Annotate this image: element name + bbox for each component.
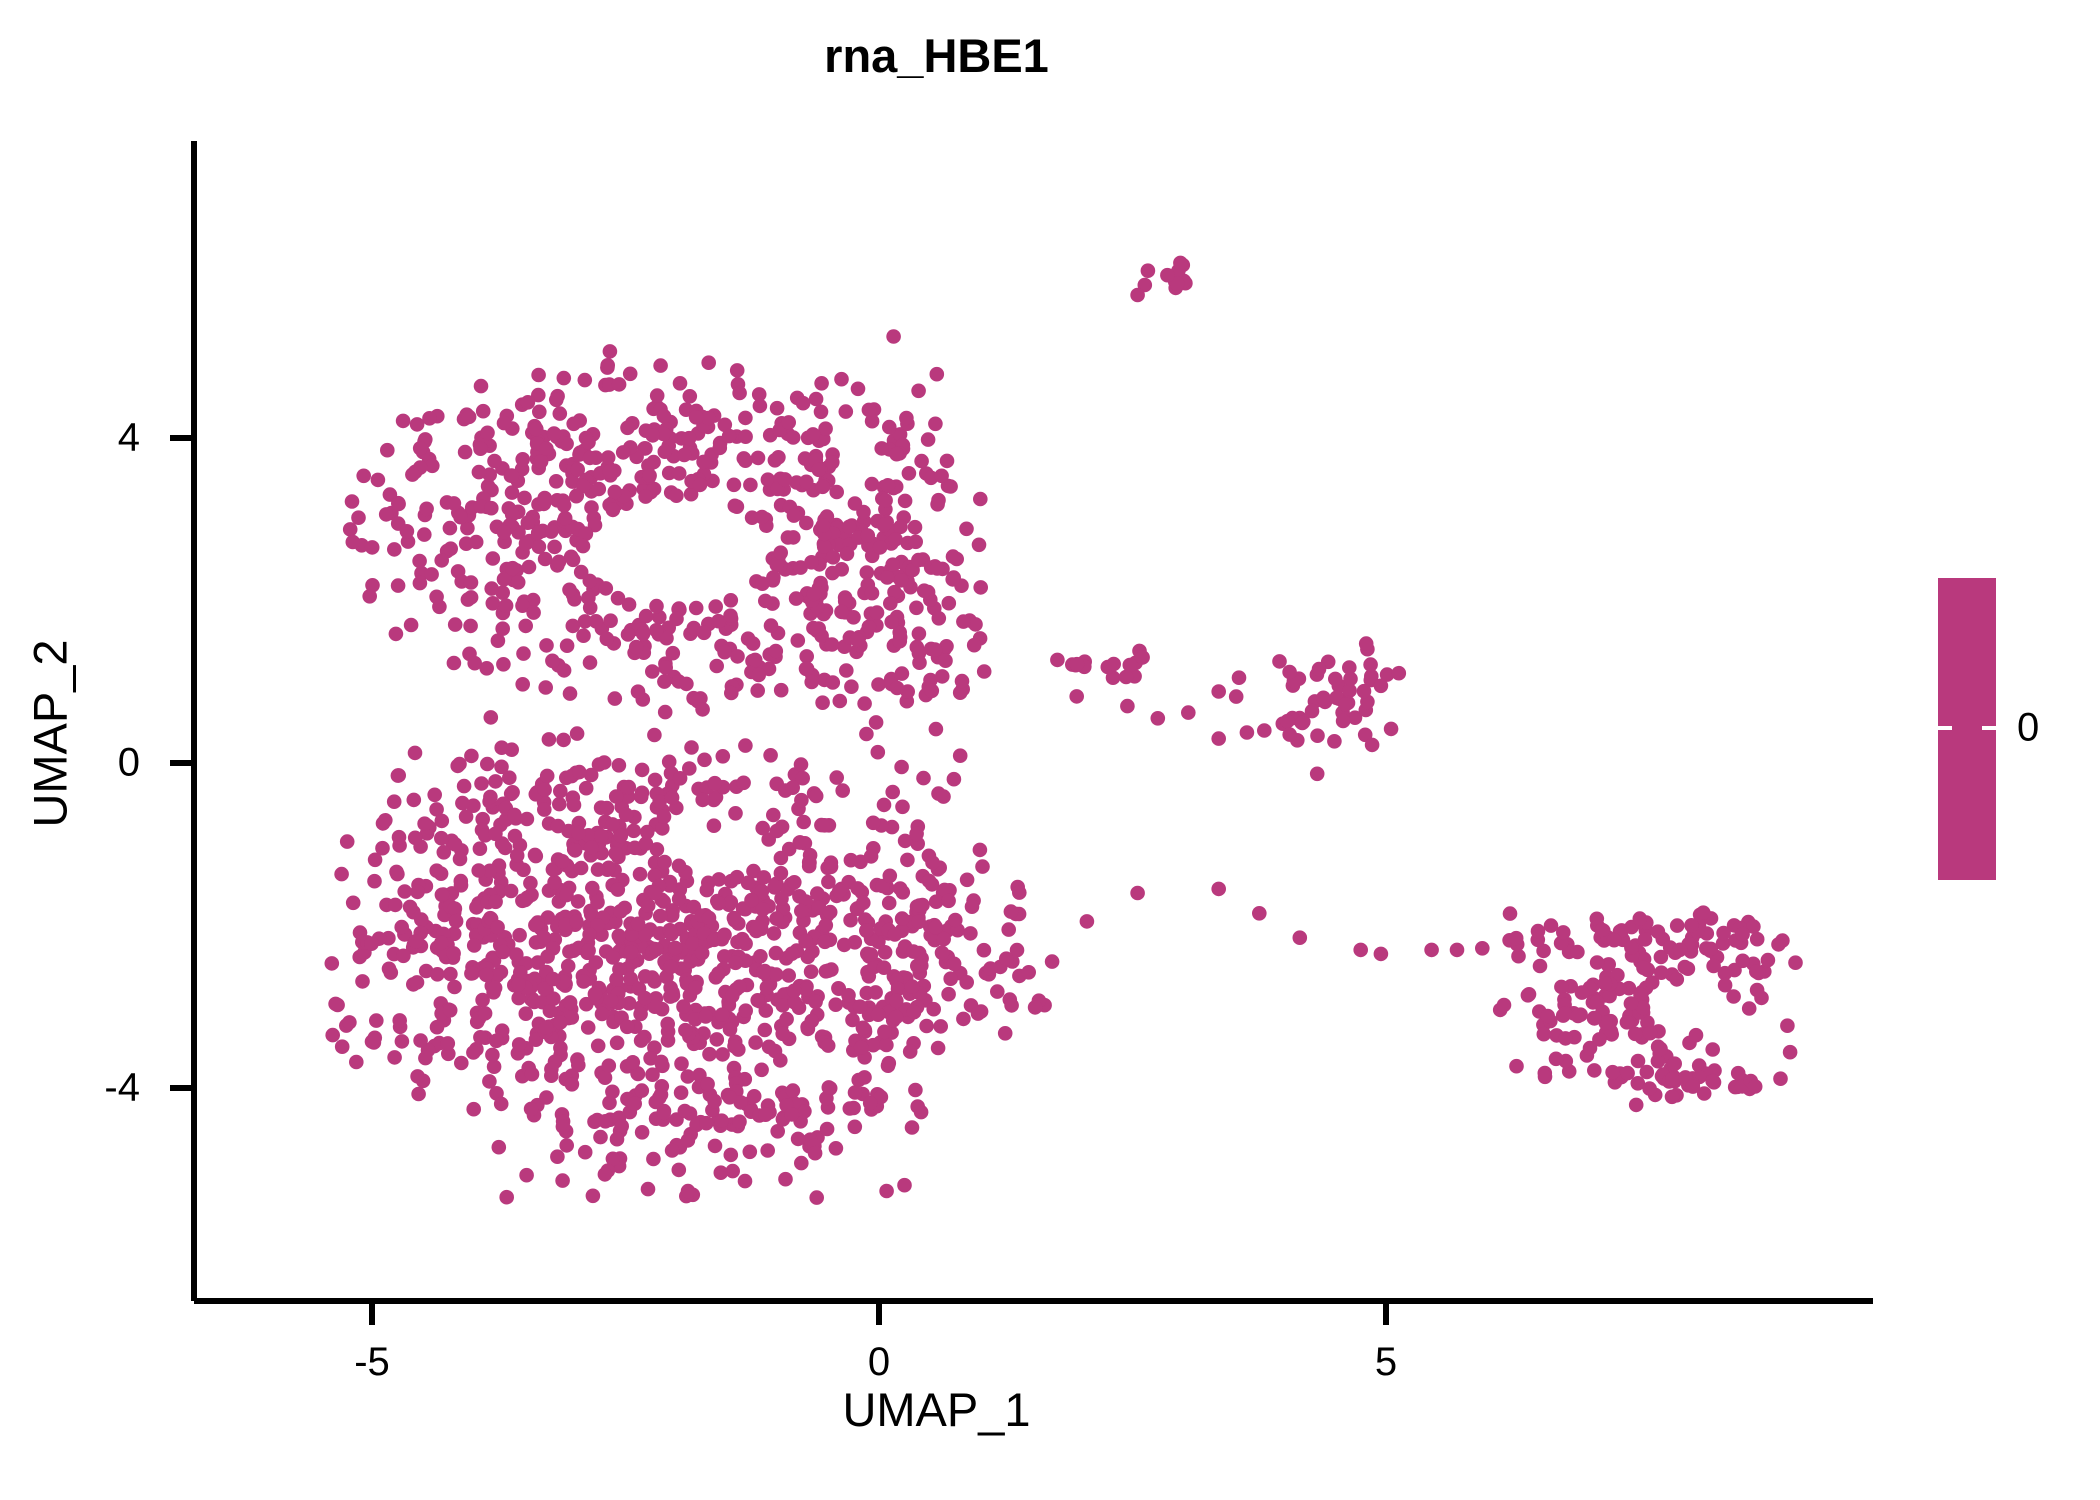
colorbar-tick-label-0: 0 xyxy=(2017,706,2039,751)
data-point-layer xyxy=(325,256,1803,1205)
axis-lines xyxy=(194,141,1873,1301)
y-axis-tick-label-neg4: -4 xyxy=(40,1066,140,1111)
scatter-plot-canvas xyxy=(0,0,2100,1500)
chart-root: rna_HBE1 4 0 -4 -5 0 5 UMAP_1 UMAP_2 0 xyxy=(0,0,2100,1500)
x-axis-tick-label-0: 0 xyxy=(868,1340,890,1385)
x-axis-tick-label-neg5: -5 xyxy=(354,1340,390,1385)
colorbar-tick-right xyxy=(1982,726,1996,730)
x-axis-title: UMAP_1 xyxy=(0,1382,1873,1437)
y-axis-tick-label-4: 4 xyxy=(60,416,140,461)
colorbar-tick-left xyxy=(1938,726,1952,730)
y-axis-title: UMAP_2 xyxy=(23,484,78,984)
x-axis-tick-label-5: 5 xyxy=(1375,1340,1397,1385)
colorbar[interactable] xyxy=(1938,578,1996,880)
